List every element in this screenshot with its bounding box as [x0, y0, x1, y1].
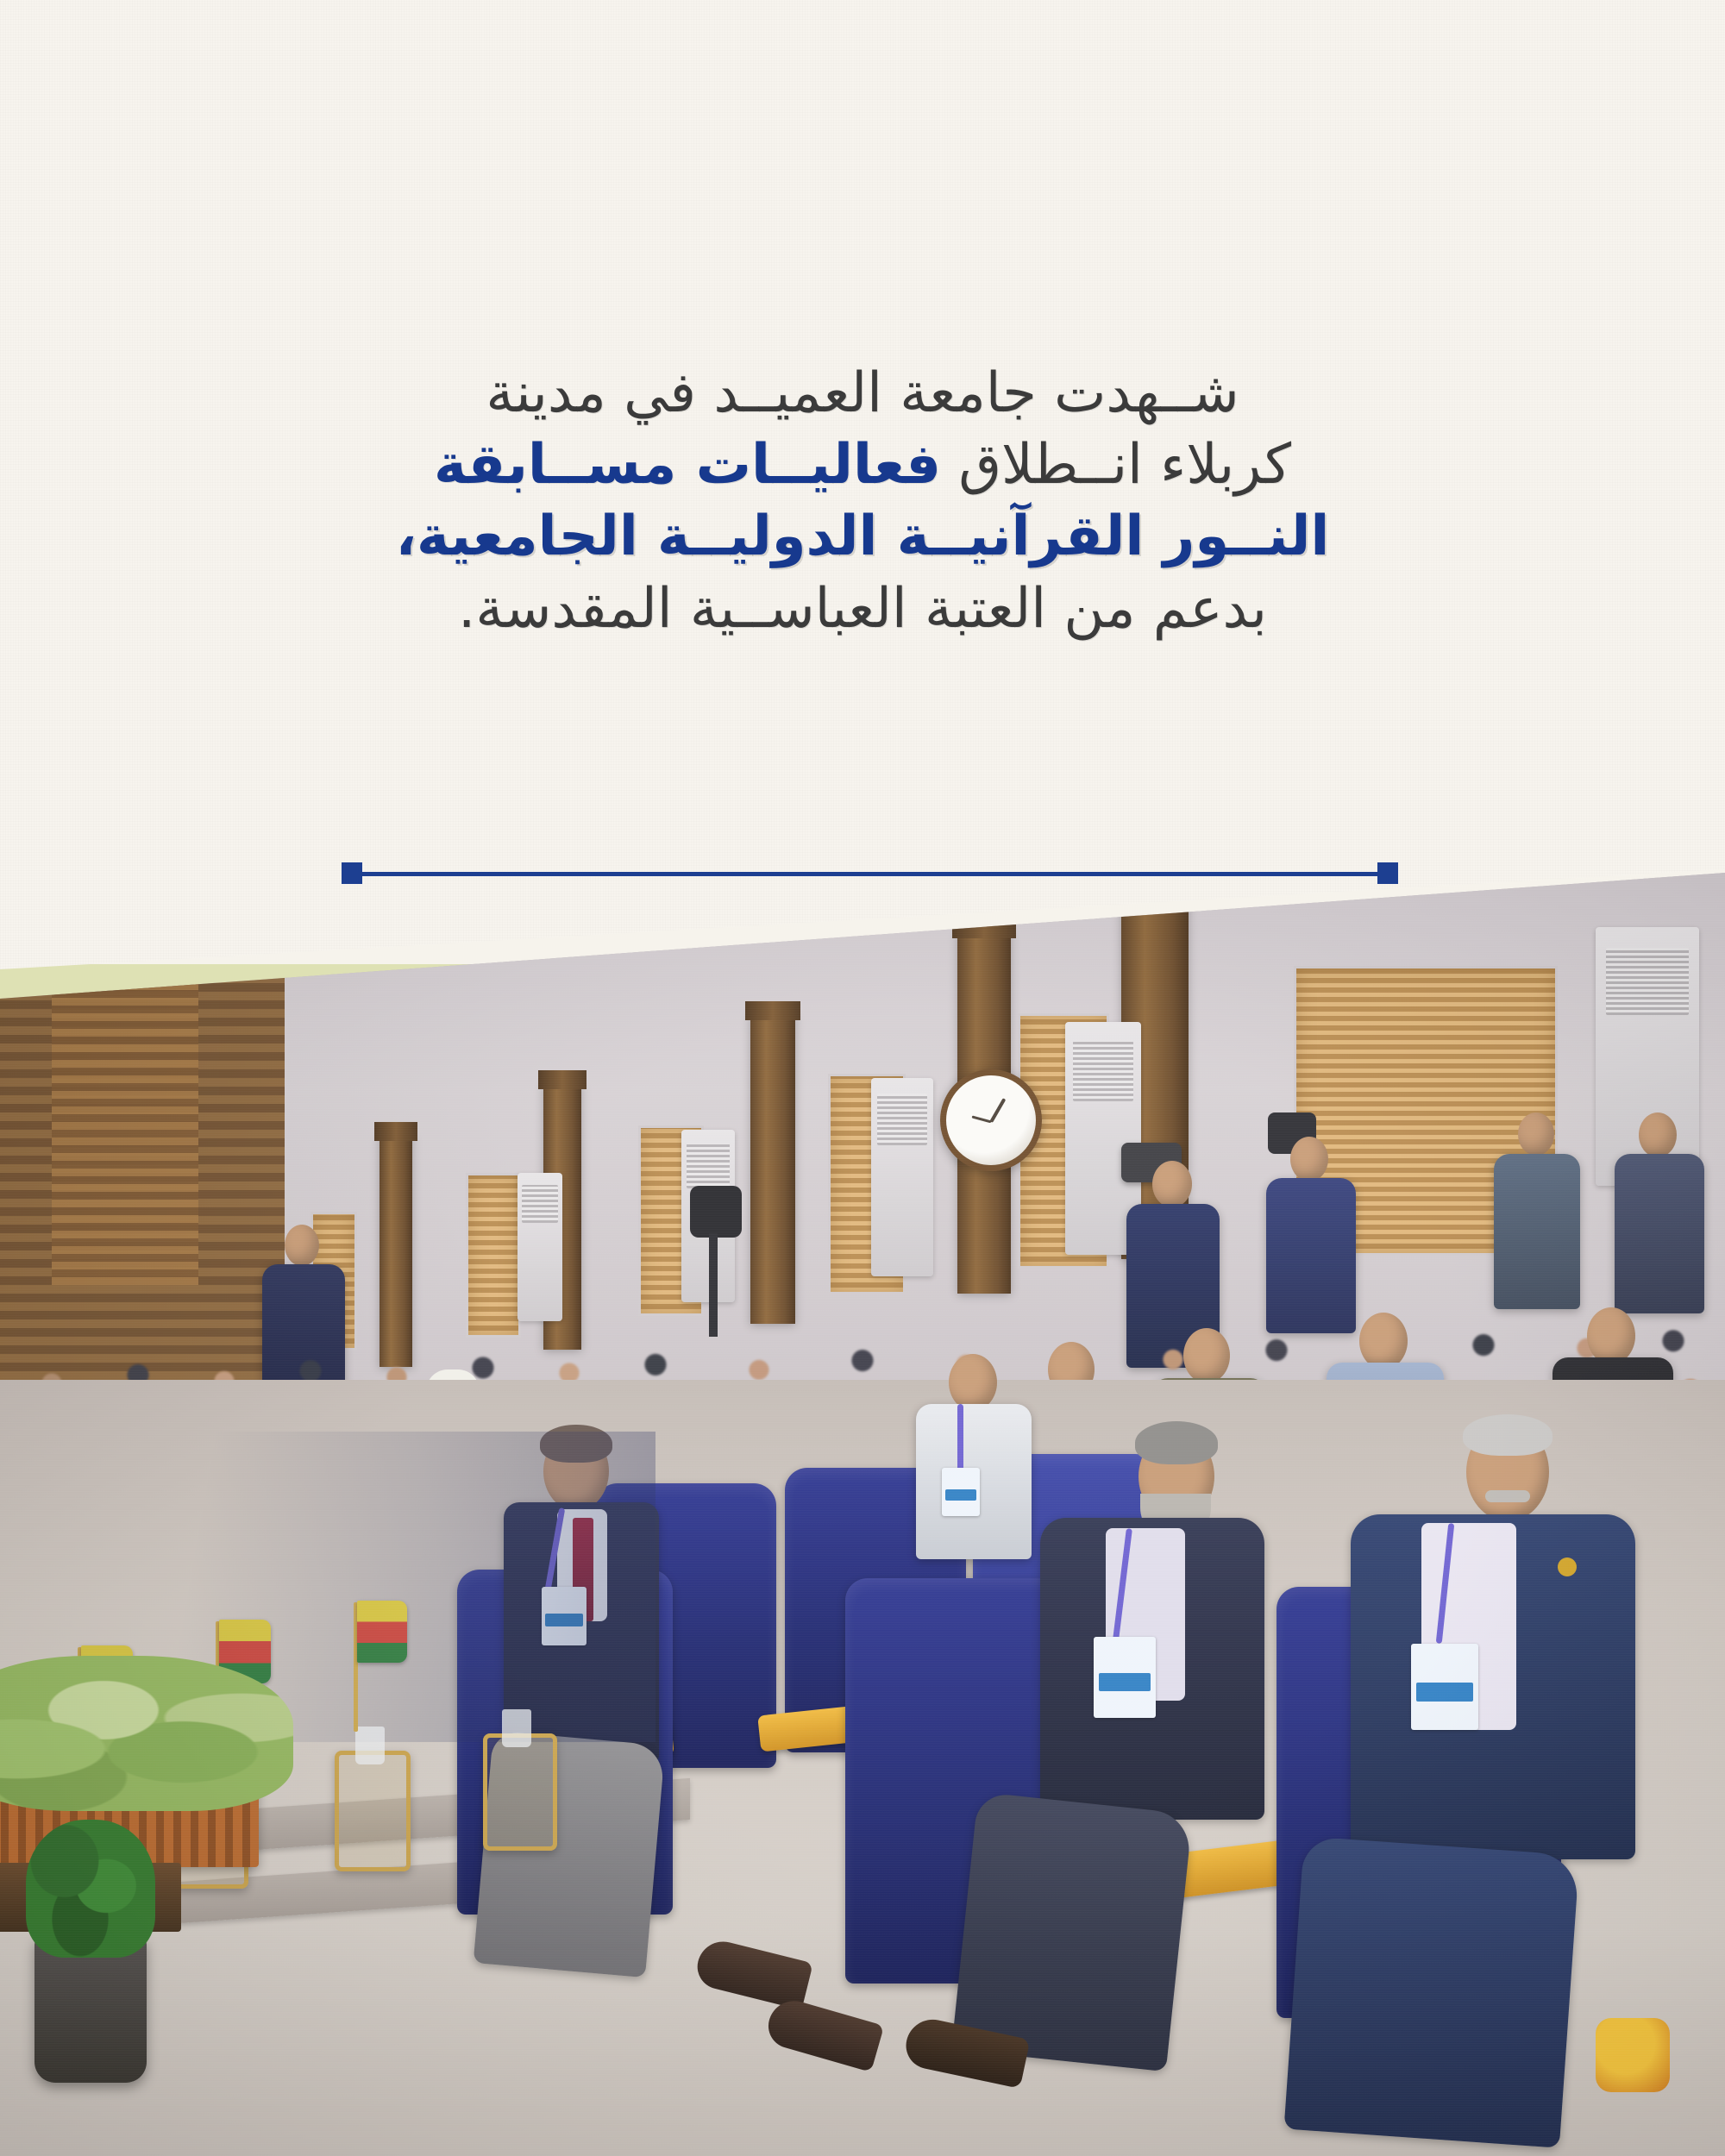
poster-root: شــهدت جامعة العميــد في مدينة كربلاء ان… [0, 0, 1725, 2156]
head [1152, 1161, 1192, 1207]
side-table [483, 1733, 557, 1851]
headline-line-4: بدعم من العتبة العباســية المقدسة. [285, 573, 1440, 645]
air-conditioner-unit [517, 1173, 562, 1321]
head [1639, 1112, 1677, 1157]
headline-block: شــهدت جامعة العميــد في مدينة كربلاء ان… [285, 358, 1440, 645]
head [1587, 1307, 1635, 1364]
head [1183, 1328, 1230, 1383]
water-glass [355, 1727, 385, 1764]
divider-cap-right [1377, 862, 1398, 884]
headline-segment: كربلاء انــطلاق [941, 433, 1291, 497]
side-table [335, 1751, 411, 1871]
headline-segment: بدعم من العتبة العباســية المقدسة. [458, 577, 1267, 641]
water-glass [502, 1709, 531, 1747]
potted-bush [26, 1820, 155, 1958]
legs [1284, 1836, 1580, 2147]
lapel-pin [1558, 1557, 1577, 1576]
hair [1463, 1414, 1552, 1456]
lanyard [957, 1404, 963, 1473]
head [1359, 1313, 1408, 1369]
wall-clock [940, 1069, 1042, 1171]
badge [1094, 1637, 1156, 1718]
hair [1135, 1421, 1218, 1464]
torso [1615, 1154, 1704, 1313]
headline-line-1: شــهدت جامعة العميــد في مدينة [285, 358, 1440, 429]
torso [1266, 1178, 1356, 1333]
headline-segment: شــهدت جامعة العميــد في مدينة [486, 361, 1239, 425]
legs [951, 1792, 1193, 2071]
badge [1411, 1644, 1478, 1730]
held-object [1596, 2018, 1670, 2092]
head [285, 1225, 319, 1266]
camera-rig [690, 1186, 742, 1238]
badge [942, 1468, 980, 1516]
head [1290, 1137, 1328, 1181]
divider [342, 862, 1398, 885]
headline-line-3: النــور القرآنيــة الدوليــة الجامعية، [285, 501, 1440, 573]
headline-segment-accent: فعاليــات مســابقة [434, 433, 941, 497]
divider-rule [352, 872, 1388, 876]
moustache [1485, 1490, 1530, 1502]
headline-segment-accent: النــور القرآنيــة الدوليــة الجامعية، [396, 505, 1330, 568]
iraq-flag [357, 1601, 407, 1663]
headline-line-2: كربلاء انــطلاق فعاليــات مســابقة [285, 429, 1440, 501]
auditorium-audience-photo [0, 828, 1725, 2156]
torso [1494, 1154, 1580, 1309]
wood-pilaster [750, 1013, 795, 1324]
head [949, 1354, 997, 1411]
air-conditioner-unit [871, 1078, 933, 1276]
plant-pot [34, 1936, 147, 2083]
leafy-plant [0, 1656, 293, 1811]
head [1518, 1112, 1554, 1156]
